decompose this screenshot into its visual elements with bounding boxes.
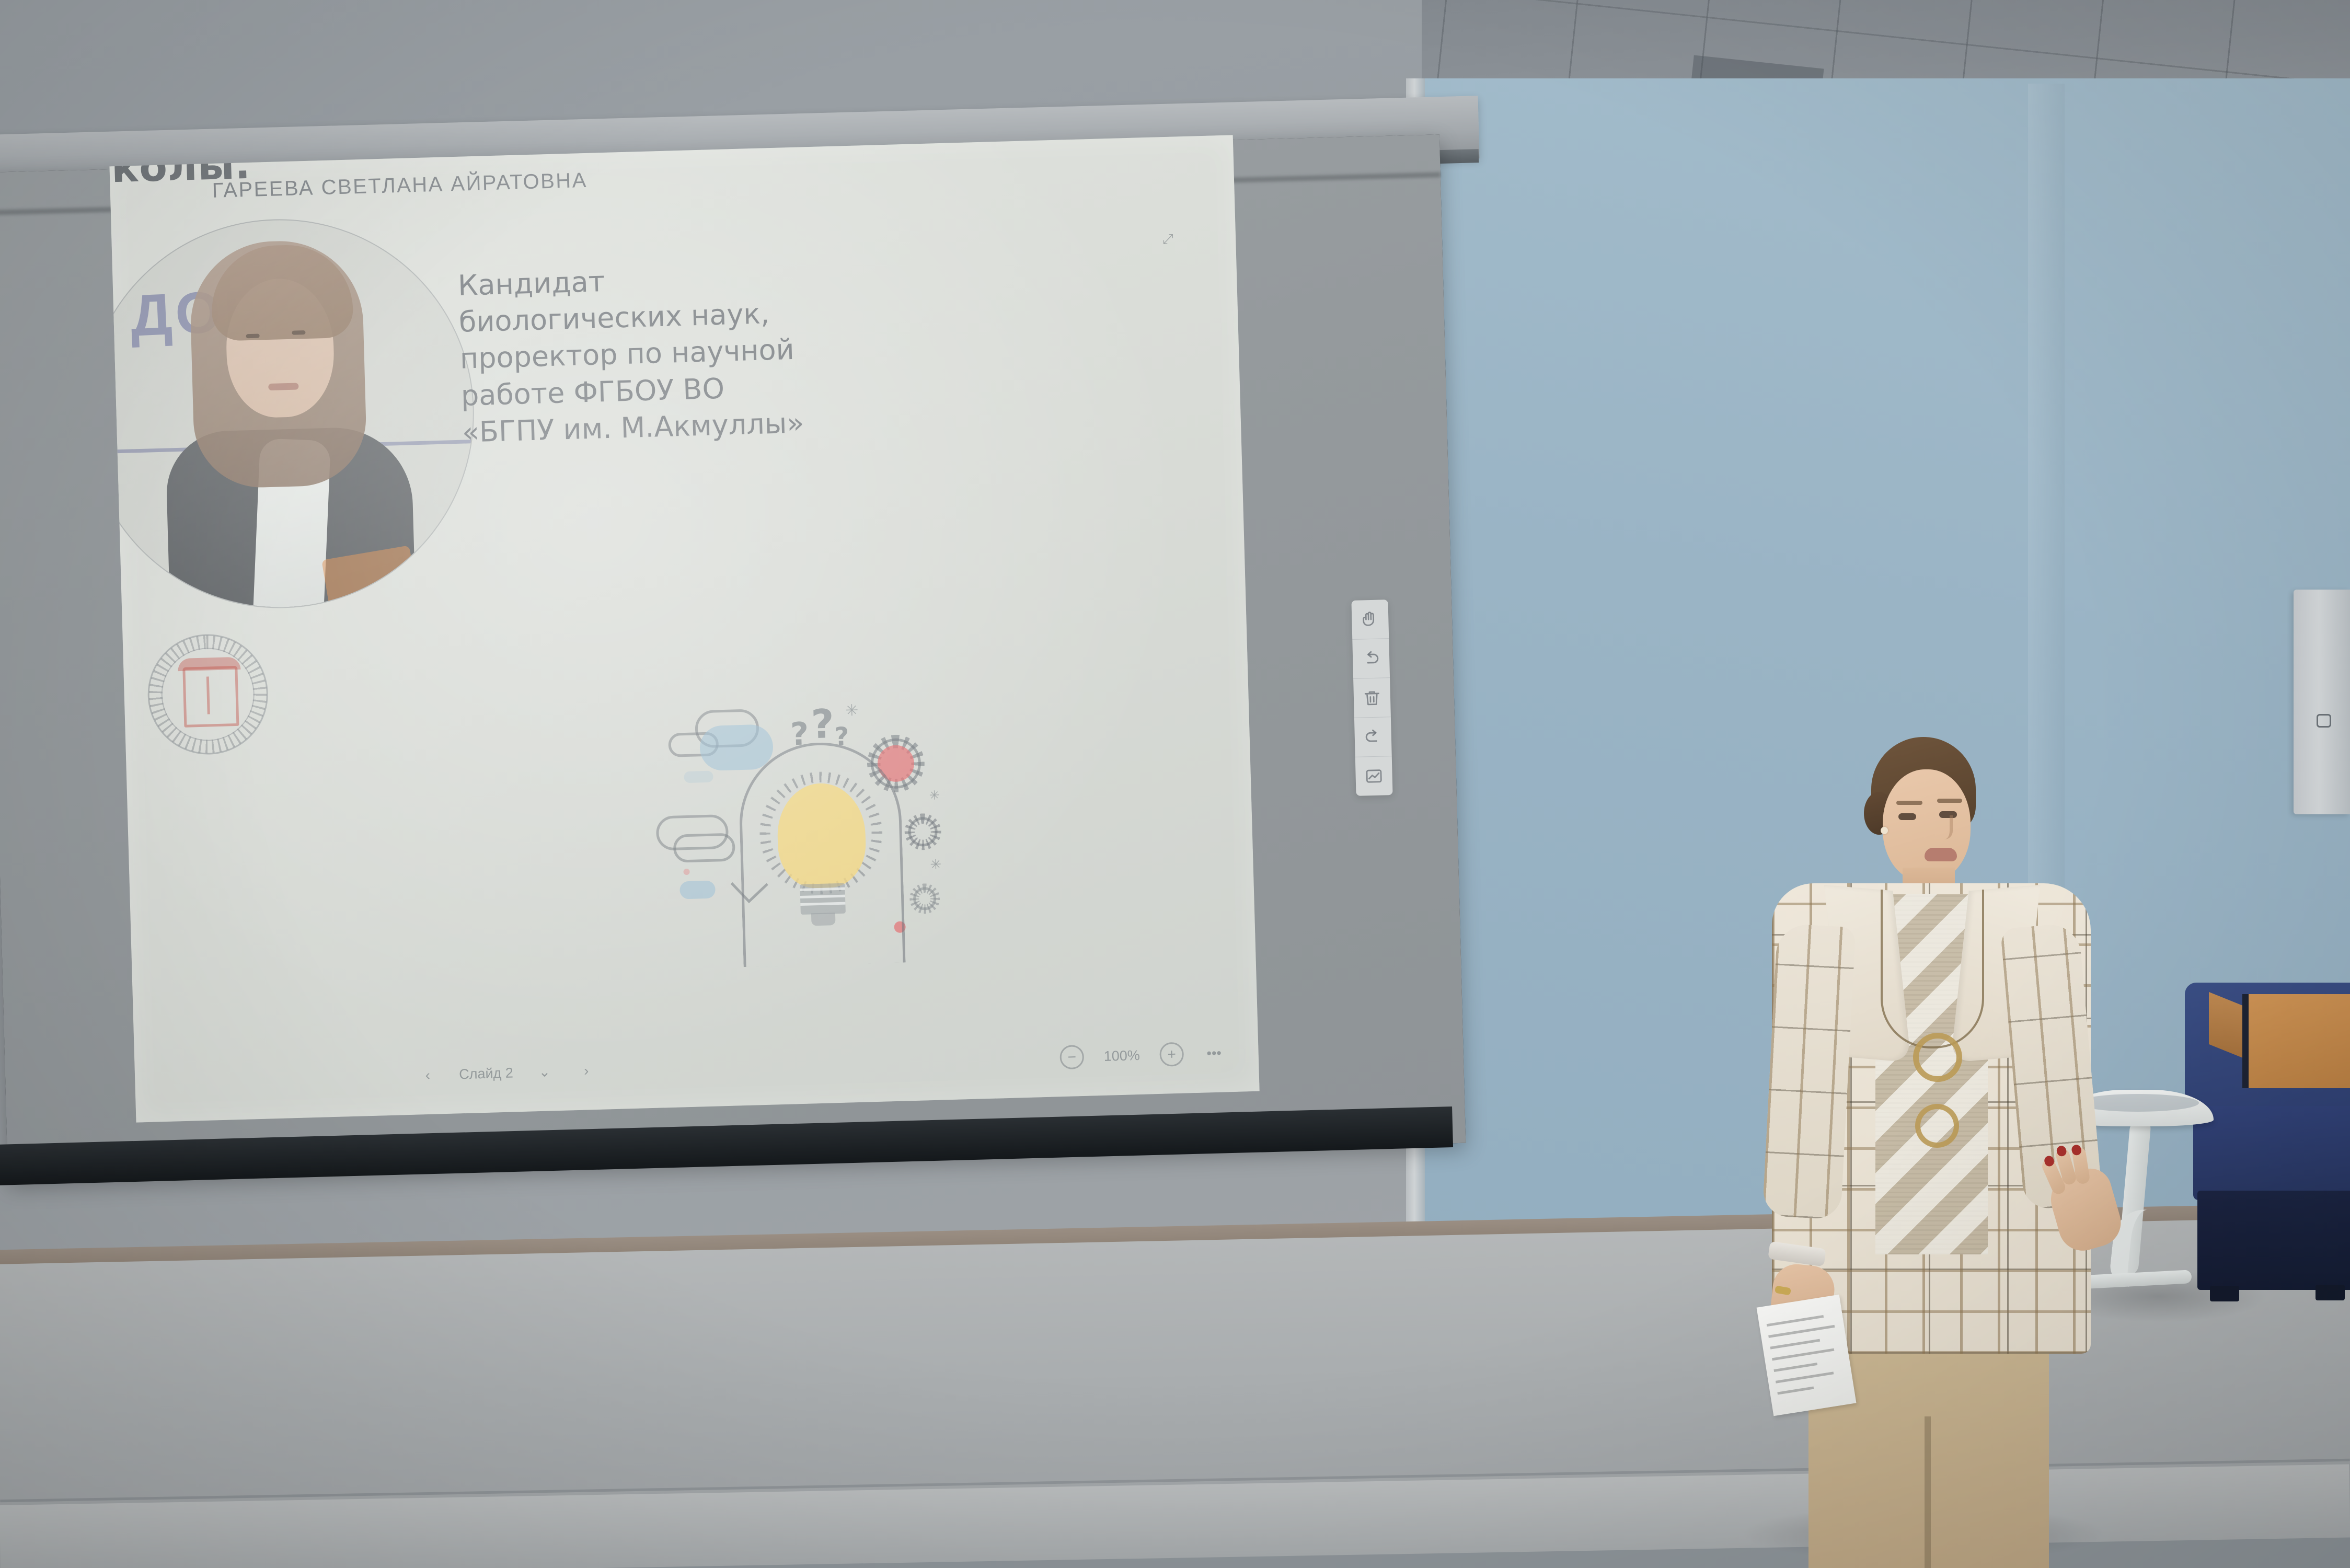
presenter-earring (1881, 827, 1888, 834)
armchair-seat (2193, 1106, 2350, 1200)
wall-speaker-panel (2294, 590, 2350, 814)
presenter-brow-left (1896, 801, 1922, 805)
institutional-seal-icon (146, 632, 270, 756)
cloud-icon-4 (673, 833, 735, 862)
sparkle-icon-2: ✳ (929, 789, 940, 802)
necklace-ring-upper (1913, 1033, 1962, 1082)
presenter-nose (1934, 815, 1953, 839)
speaker-portrait: ДОП (109, 214, 479, 613)
zoom-in-button[interactable]: + (1159, 1042, 1184, 1067)
lightbulb-tip-icon (811, 913, 836, 926)
held-paper (1757, 1295, 1857, 1416)
portrait-mouth (268, 383, 298, 390)
chart-image-icon[interactable] (1355, 756, 1393, 796)
zoom-level-label: 100% (1103, 1047, 1140, 1064)
portrait-eye-left (246, 333, 260, 338)
armchair-foot-right (2316, 1285, 2345, 1300)
lightbulb-base-icon (800, 883, 846, 915)
next-slide-button[interactable]: › (575, 1060, 597, 1081)
projected-slide[interactable]: Открытие Студенческой научной школы. ГАР… (109, 135, 1259, 1122)
sparkle-icon-1: ✳ (845, 703, 859, 719)
presenter-brow-right (1937, 799, 1962, 803)
necklace-ring-lower (1915, 1104, 1959, 1148)
more-options-button[interactable]: ••• (1203, 1042, 1225, 1064)
cloud-fill-2 (679, 881, 716, 900)
expand-icon[interactable]: ⤢ (1162, 232, 1177, 246)
armchair-wood-panel (2242, 994, 2350, 1088)
panel-knob-icon (2317, 714, 2331, 728)
cloud-fill-3 (684, 771, 713, 783)
presenter-trouser-seam (1925, 1416, 1931, 1568)
seal-book-emblem-icon (182, 666, 239, 728)
idea-illustration: ? ? ? ✳ ✳ ✳ (657, 671, 968, 972)
undo-icon[interactable] (1352, 639, 1390, 679)
lecture-hall-photo: digis Открытие Студенческой научной школ… (0, 0, 2350, 1568)
presenter-arm-left (1762, 923, 1856, 1219)
zoom-out-button[interactable]: − (1059, 1045, 1084, 1069)
gear-icon-2 (908, 817, 938, 847)
trash-icon[interactable] (1353, 678, 1391, 718)
presenter-mouth (1925, 848, 1957, 861)
armchair-foot-left (2210, 1286, 2239, 1301)
pan-hand-icon[interactable] (1351, 599, 1389, 640)
redo-icon[interactable] (1354, 717, 1392, 757)
presenter-eye-left (1898, 813, 1916, 820)
sparkle-icon-3: ✳ (930, 857, 942, 871)
cloud-fill-1 (699, 724, 774, 771)
presenter-necklace (1881, 890, 1984, 1048)
gear-icon-3 (913, 887, 937, 910)
armchair-front (2197, 1191, 2350, 1290)
question-mark-icon-2: ? (811, 700, 835, 747)
presenter-speaking (1741, 737, 2117, 1568)
slide-number-label: Слайд 2 (459, 1065, 513, 1082)
slide-dropdown-caret-icon[interactable]: ⌄ (534, 1061, 555, 1082)
dot-icon-small (683, 869, 689, 875)
portrait-eye-right (292, 330, 305, 335)
slide-body-text: Кандидат биологических наук, проректор п… (457, 258, 818, 451)
whiteboard-toolbar[interactable] (1351, 599, 1392, 796)
prev-slide-button[interactable]: ‹ (417, 1064, 439, 1086)
presenter-face (1883, 769, 1971, 882)
